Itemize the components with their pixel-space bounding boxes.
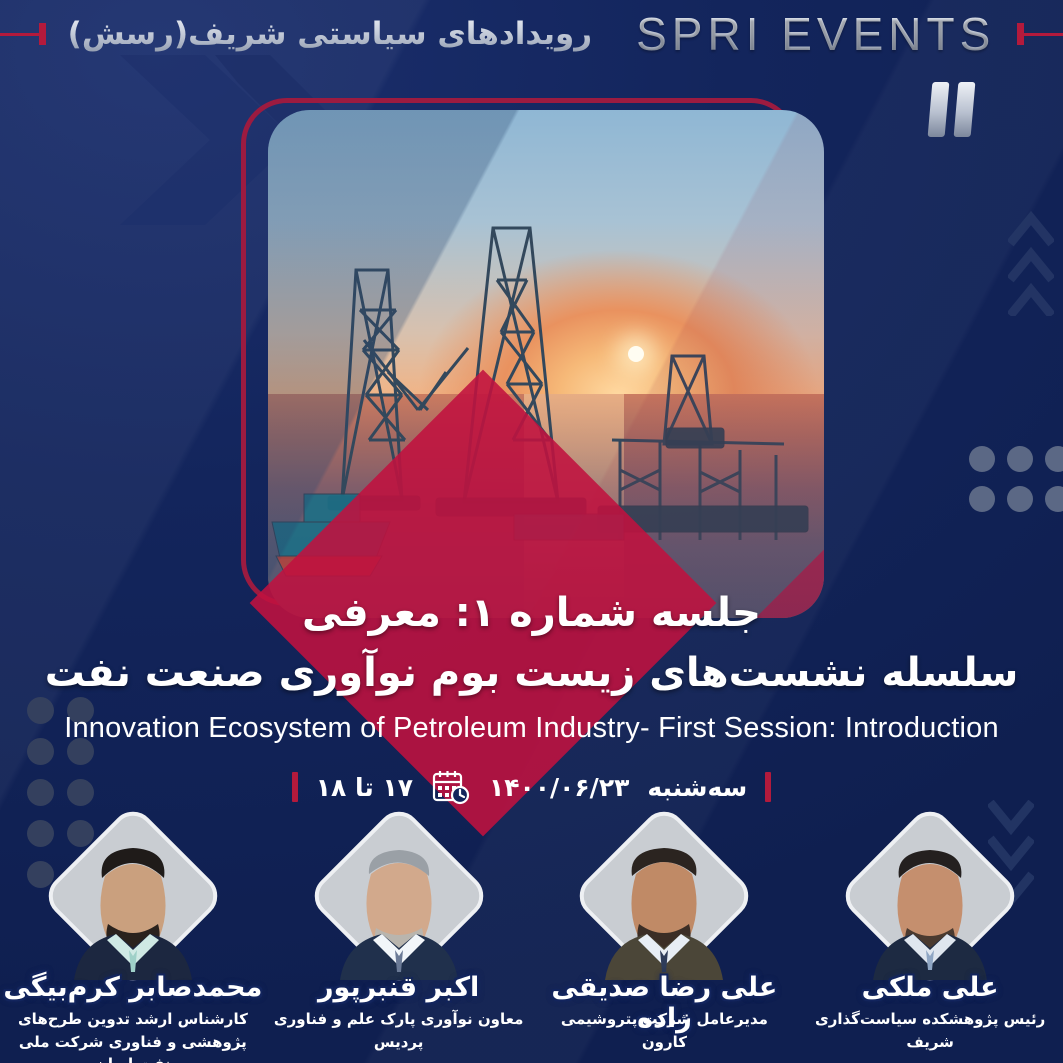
speaker-photo: [855, 832, 1005, 980]
header-tick-right: [39, 23, 46, 45]
chevron-up-icon: [1008, 206, 1054, 316]
event-meta-row: سه‌شنبه ۱۴۰۰/۰۶/۲۳ ۱۷ تا ۱۸: [0, 768, 1063, 806]
speaker-card[interactable]: علی ملکی رئیس پژوهشکده سیاست‌گذاری شریف: [797, 826, 1063, 1063]
header-rule-right: [0, 33, 39, 36]
chevron-up-icon-group: [1008, 206, 1054, 316]
speaker-card[interactable]: اکبر قنبرپور معاون نوآوری پارک علم و فنا…: [266, 826, 532, 1063]
series-title-fa: سلسله نشست‌های زیست بوم نوآوری صنعت نفت: [0, 648, 1063, 698]
quote-mark-icon: [930, 82, 973, 137]
poster-header: SPRI EVENTS رویدادهای سیاستی شریف(رسش): [0, 0, 1063, 68]
brand-title-en: SPRI EVENTS: [614, 7, 1017, 61]
meta-tick-left: [292, 772, 298, 802]
title-block: جلسه شماره ۱: معرفی سلسله نشست‌های زیست …: [0, 588, 1063, 745]
brand-title-fa: رویدادهای سیاستی شریف(رسش): [46, 16, 614, 52]
event-poster: SPRI EVENTS رویدادهای سیاستی شریف(رسش): [0, 0, 1063, 1063]
header-tick-left: [1017, 23, 1024, 45]
speaker-name: اکبر قنبرپور: [266, 972, 532, 1003]
speaker-photo: [589, 832, 739, 980]
session-title-fa: جلسه شماره ۱: معرفی: [0, 588, 1063, 638]
event-weekday: سه‌شنبه: [647, 773, 747, 802]
header-rule-left: [1024, 33, 1063, 36]
event-date: ۱۴۰۰/۰۶/۲۳: [489, 773, 629, 802]
dot-grid-right: [957, 446, 1063, 526]
event-time: ۱۷ تا ۱۸: [316, 773, 413, 802]
meta-tick-right: [765, 772, 771, 802]
speaker-photo: [58, 832, 208, 980]
speaker-card[interactable]: علی رضا صدیقی زاده مدیرعامل شرکت پتروشیم…: [532, 826, 798, 1063]
speaker-name: علی ملکی: [797, 972, 1063, 1003]
speakers-row: علی ملکی رئیس پژوهشکده سیاست‌گذاری شریف …: [0, 826, 1063, 1063]
speaker-role: معاون نوآوری پارک علم و فناوری پردیس: [266, 1008, 532, 1053]
speaker-card[interactable]: محمدصابر کرم‌بیگی کارشناس ارشد تدوین طرح…: [0, 826, 266, 1063]
calendar-clock-icon: [431, 768, 471, 806]
speaker-role: رئیس پژوهشکده سیاست‌گذاری شریف: [797, 1008, 1063, 1053]
speaker-photo: [324, 832, 474, 980]
speaker-role: مدیرعامل شرکت پتروشیمی کارون: [532, 1008, 798, 1053]
speaker-name: محمدصابر کرم‌بیگی: [0, 972, 266, 1003]
speaker-role: کارشناس ارشد تدوین طرح‌های پژوهشی و فناو…: [0, 1008, 266, 1063]
series-title-en: Innovation Ecosystem of Petroleum Indust…: [0, 712, 1063, 745]
